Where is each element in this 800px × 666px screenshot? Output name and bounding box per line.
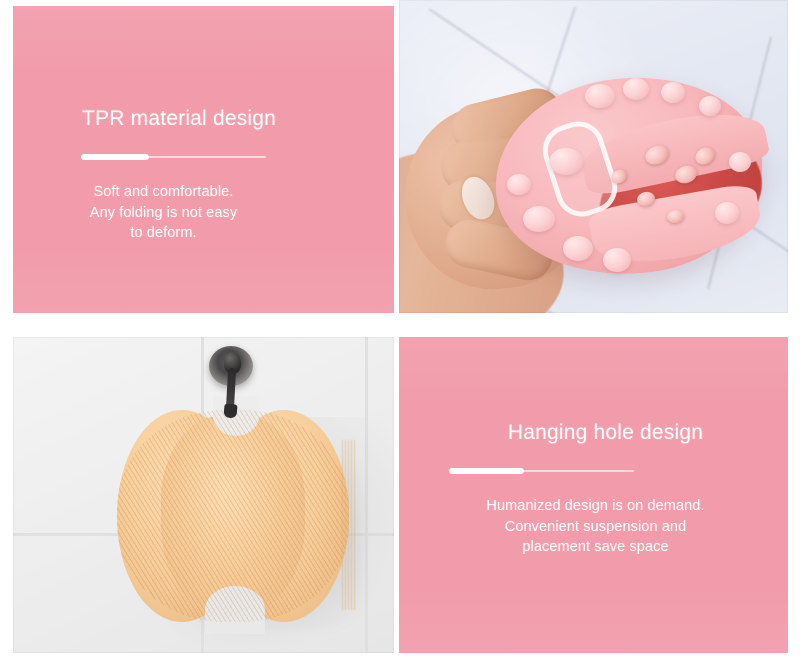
photo-canvas-top-right	[399, 0, 788, 313]
panel-hanging-hole-design: Hanging hole design Humanized design is …	[399, 337, 788, 653]
hanging-body-line-3: placement save space	[413, 537, 778, 558]
composite-offset-layer	[13, 337, 394, 653]
brush-nub	[603, 248, 631, 272]
hanging-brush-composite	[13, 337, 394, 653]
product-feature-collage: TPR material design Soft and comfortable…	[0, 0, 800, 666]
tpr-copy-block: TPR material design Soft and comfortable…	[13, 106, 394, 244]
tpr-body-line-2: Any folding is not easy	[19, 203, 308, 224]
brush-nub	[623, 78, 649, 100]
tpr-title: TPR material design	[82, 106, 394, 132]
brush-nub	[507, 174, 531, 195]
tpr-body-text: Soft and comfortable. Any folding is not…	[13, 182, 394, 244]
hanging-divider	[399, 468, 788, 474]
pad-bristle-texture	[117, 410, 349, 622]
tpr-divider-thick-line	[81, 154, 149, 160]
tpr-body-line-1: Soft and comfortable.	[19, 182, 308, 203]
hanging-body-line-2: Convenient suspension and	[413, 517, 778, 538]
brush-nub	[729, 152, 751, 172]
beige-silicone-brush-pad	[117, 410, 349, 622]
hanging-title: Hanging hole design	[399, 420, 788, 446]
panel-tpr-material-design: TPR material design Soft and comfortable…	[13, 6, 394, 313]
hanging-divider-thick-line	[449, 468, 524, 474]
hanging-body-line-1: Humanized design is on demand.	[413, 496, 778, 517]
brush-nub	[661, 82, 685, 103]
tpr-divider	[13, 154, 394, 160]
brush-nub	[715, 202, 739, 224]
brush-nub	[699, 96, 721, 116]
hanging-body-text: Humanized design is on demand. Convenien…	[399, 496, 788, 558]
photo-hand-holding-pink-brush	[399, 0, 788, 313]
brush-nub	[523, 206, 555, 232]
brush-nub	[585, 84, 615, 108]
brush-nub	[549, 148, 583, 175]
tpr-body-line-3: to deform.	[19, 223, 308, 244]
pad-edge-bristles	[342, 440, 356, 610]
hanging-copy-block: Hanging hole design Humanized design is …	[399, 420, 788, 558]
brush-nub	[563, 236, 593, 261]
